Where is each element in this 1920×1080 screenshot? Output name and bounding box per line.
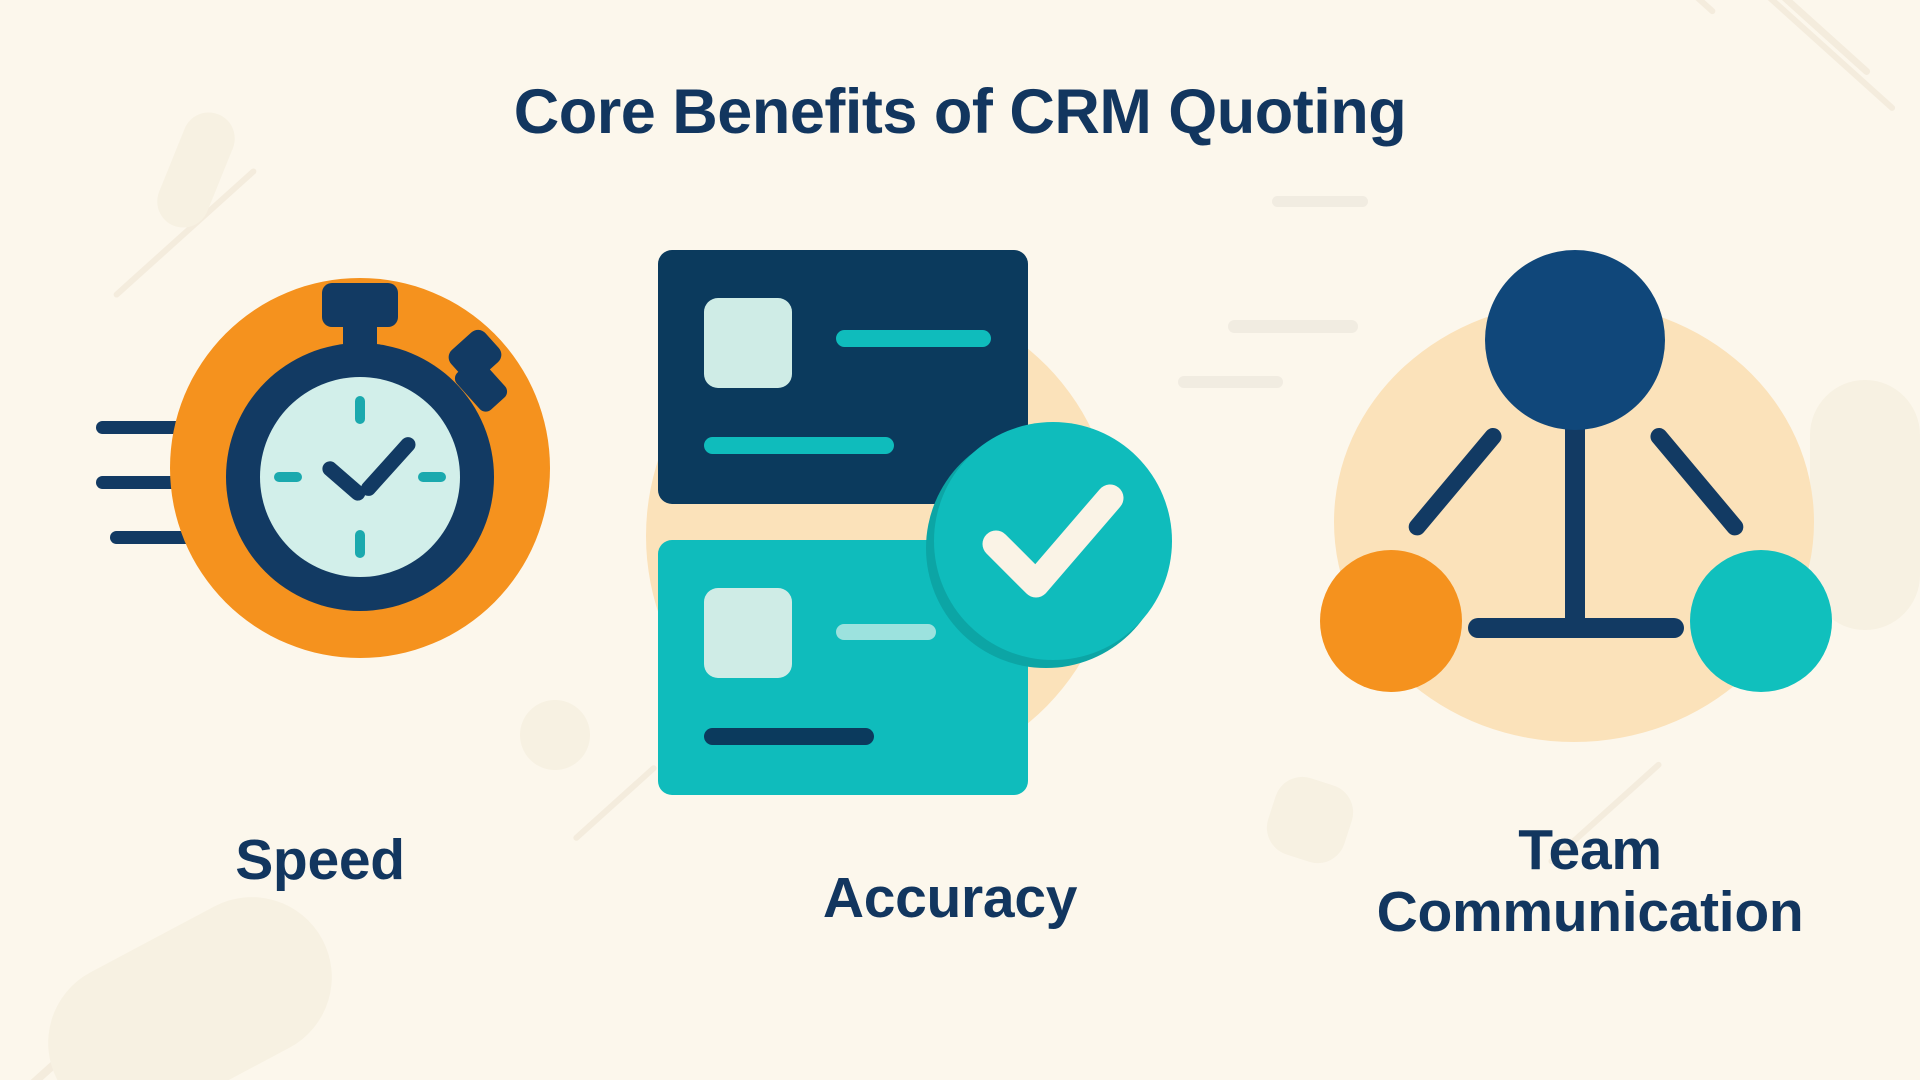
card-text-bar	[836, 330, 991, 347]
benefit-label-team-line1: Team	[1300, 820, 1880, 882]
stopwatch-crown	[322, 283, 398, 327]
benefit-label-accuracy: Accuracy	[640, 868, 1260, 930]
infographic-canvas: Core Benefits of CRM Quoting Speed	[0, 0, 1920, 1080]
benefit-card-accuracy: Accuracy	[640, 250, 1260, 840]
network-nodes-icon	[1300, 250, 1880, 790]
clock-tick-icon	[355, 396, 365, 424]
benefit-label-speed: Speed	[60, 830, 580, 892]
benefit-card-team: Team Communication	[1300, 250, 1880, 790]
clock-tick-icon	[355, 530, 365, 558]
card-thumbnail	[704, 588, 792, 678]
card-thumbnail	[704, 298, 792, 388]
benefit-card-speed: Speed	[60, 250, 580, 790]
quote-cards-check-icon	[640, 250, 1260, 840]
network-node-teal	[1690, 550, 1832, 692]
stopwatch-icon	[60, 250, 580, 790]
benefit-label-team-line2: Communication	[1300, 882, 1880, 944]
card-text-bar	[704, 437, 894, 454]
page-title: Core Benefits of CRM Quoting	[0, 76, 1920, 148]
check-icon	[934, 422, 1172, 660]
benefit-label-team: Team Communication	[1300, 820, 1880, 943]
diagonal-streak	[11, 924, 210, 1080]
background-placeholder-bar	[1272, 196, 1368, 207]
network-edge	[1468, 618, 1684, 638]
clock-tick-icon	[274, 472, 302, 482]
card-text-bar	[704, 728, 874, 745]
card-text-bar	[836, 624, 936, 640]
network-node-orange	[1320, 550, 1462, 692]
clock-tick-icon	[418, 472, 446, 482]
network-edge	[1565, 418, 1585, 628]
network-node-primary	[1485, 250, 1665, 430]
diagonal-streak	[1688, 0, 1871, 76]
background-blob	[20, 869, 360, 1080]
diagonal-streak	[1623, 0, 1716, 15]
